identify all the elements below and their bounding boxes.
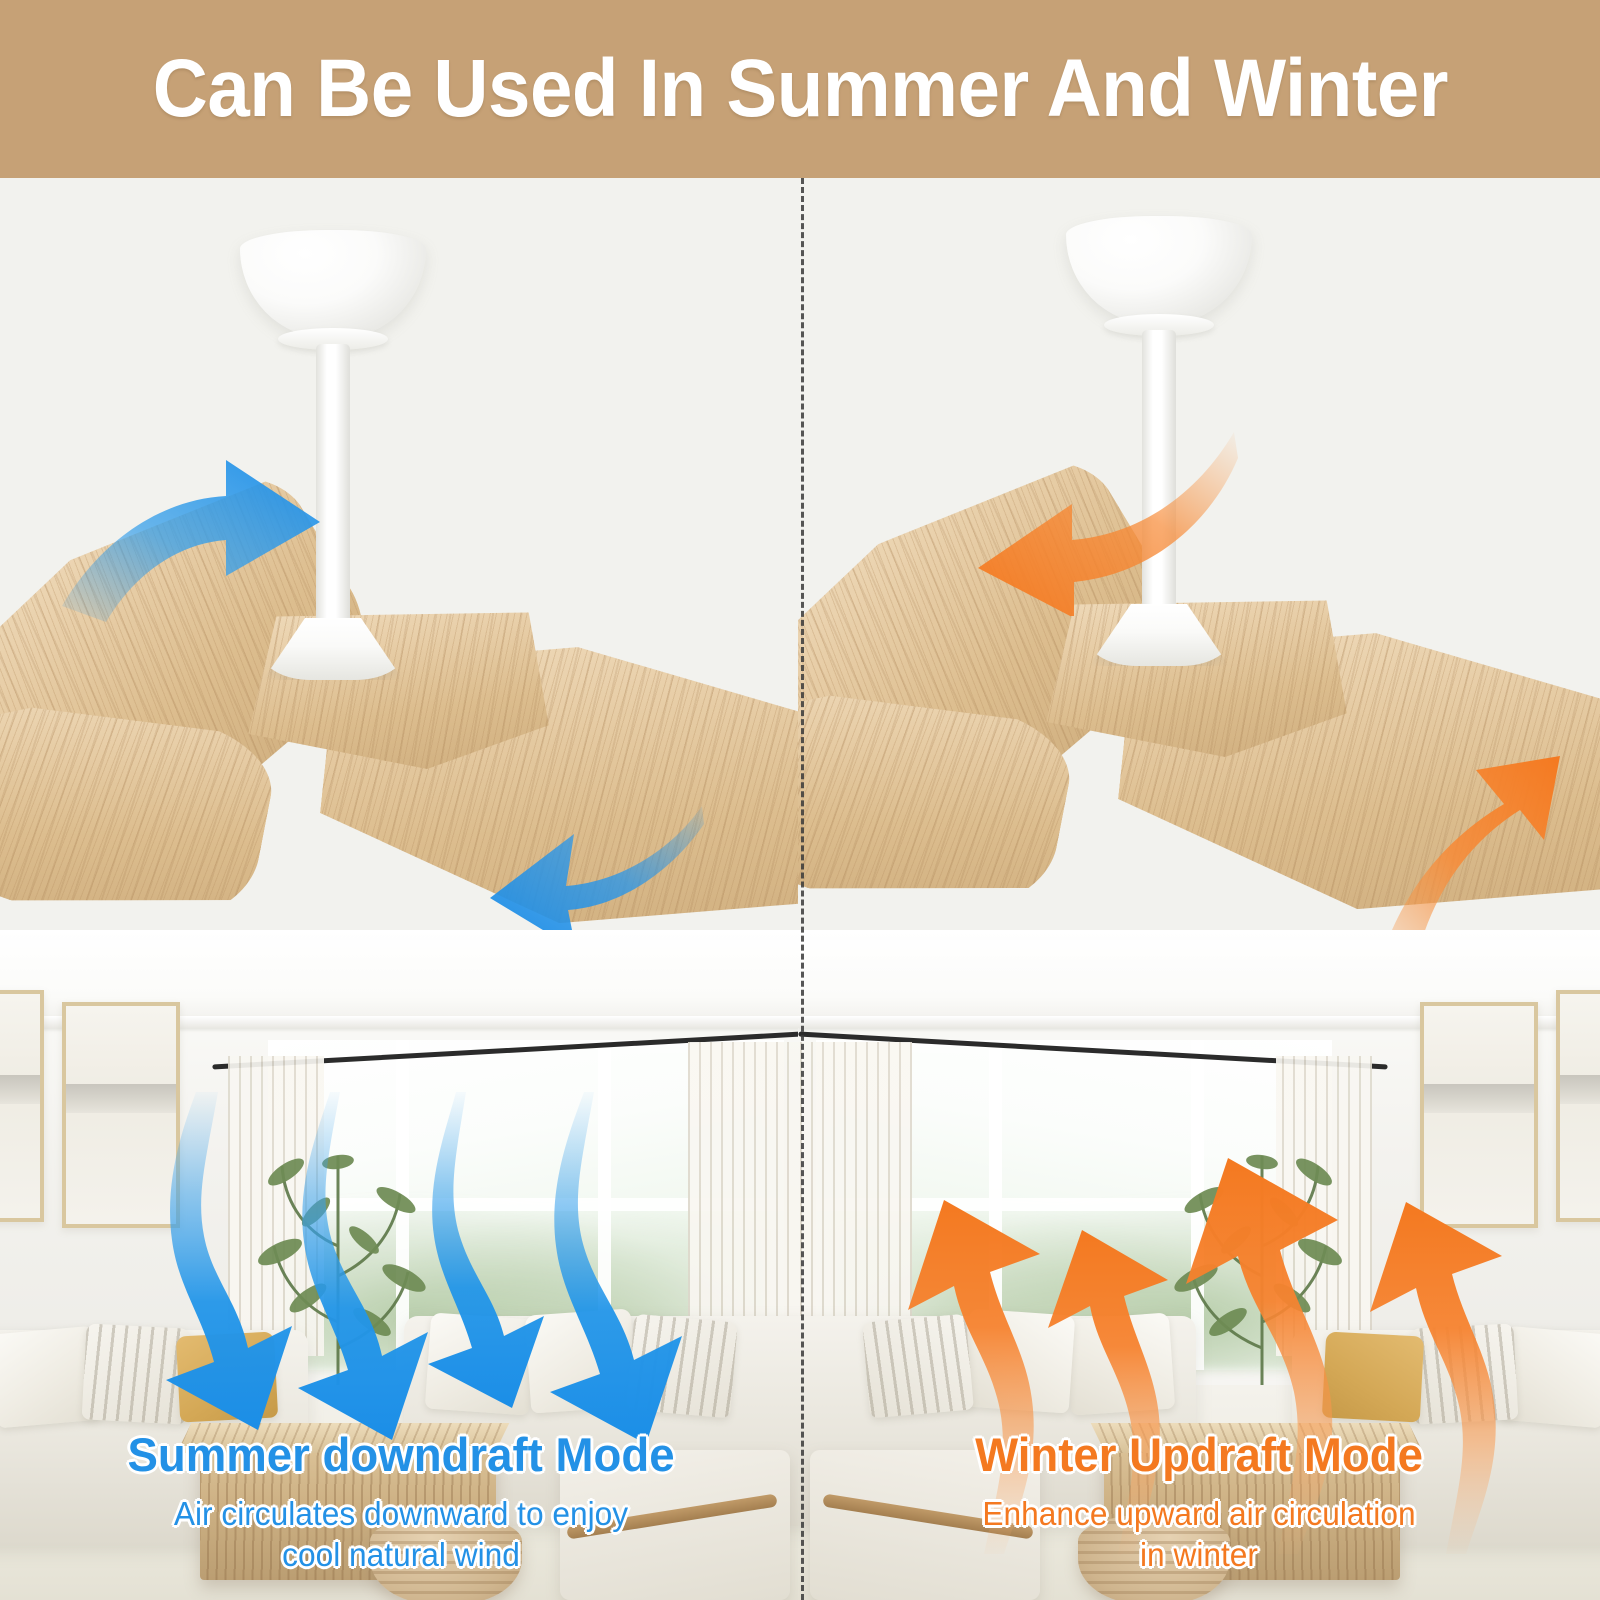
curtain-right: [688, 1042, 802, 1360]
winter-room-scene: Winter Updraft Mode Enhance upward air c…: [798, 930, 1600, 1600]
curtain-right-w: [798, 1042, 912, 1360]
summer-mode-desc-line2: cool natural wind: [16, 1535, 786, 1575]
fan-hub-blend: [247, 603, 552, 773]
sofa-cushion-2-w: [1410, 1323, 1519, 1424]
summer-label-block: Summer downdraft Mode Air circulates dow…: [0, 1430, 802, 1575]
wall-art-1: [0, 990, 44, 1222]
winter-mode-title: Winter Updraft Mode: [810, 1430, 1588, 1480]
fan-downrod: [316, 344, 350, 624]
summer-fan-illustration: [0, 178, 802, 938]
sofa-cushion-gold: [176, 1331, 278, 1422]
sofa-right-cushion-2: [525, 1308, 638, 1413]
winter-mode-desc-line1: Enhance upward air circulation: [814, 1494, 1584, 1534]
fan-canopy: [240, 230, 426, 338]
header-banner: Can Be Used In Summer And Winter: [0, 0, 1600, 178]
winter-fan-illustration: [798, 178, 1600, 938]
summer-room-scene: Summer downdraft Mode Air circulates dow…: [0, 930, 802, 1600]
fan-hub-blend-w: [1045, 591, 1350, 761]
sofa-right-cushion-2-w: [963, 1308, 1076, 1413]
winter-mode-desc-line2: in winter: [814, 1535, 1584, 1575]
page-title: Can Be Used In Summer And Winter: [152, 42, 1447, 136]
fan-downrod-w: [1142, 330, 1176, 608]
wall-art-1-w: [1556, 990, 1600, 1222]
sofa-right-cushion-3: [626, 1314, 738, 1419]
wall-art-2-w: [1420, 1002, 1538, 1228]
wall-art-2: [62, 1002, 180, 1228]
sofa-cushion-gold-w: [1322, 1331, 1424, 1422]
sofa-cushion-2: [82, 1323, 191, 1424]
summer-mode-desc-line1: Air circulates downward to enjoy: [16, 1494, 786, 1534]
comparison-stage: Summer downdraft Mode Air circulates dow…: [0, 178, 1600, 1600]
summer-mode-title: Summer downdraft Mode: [12, 1430, 790, 1480]
sofa-right-cushion-3-w: [862, 1314, 974, 1419]
fan-canopy-w: [1066, 216, 1252, 324]
sofa-right-cushion-1: [425, 1312, 535, 1415]
winter-panel: Winter Updraft Mode Enhance upward air c…: [798, 178, 1600, 1600]
summer-panel: Summer downdraft Mode Air circulates dow…: [0, 178, 802, 1600]
sofa-right-cushion-1-w: [1065, 1312, 1175, 1415]
winter-label-block: Winter Updraft Mode Enhance upward air c…: [798, 1430, 1600, 1575]
panel-divider: [801, 178, 804, 1600]
